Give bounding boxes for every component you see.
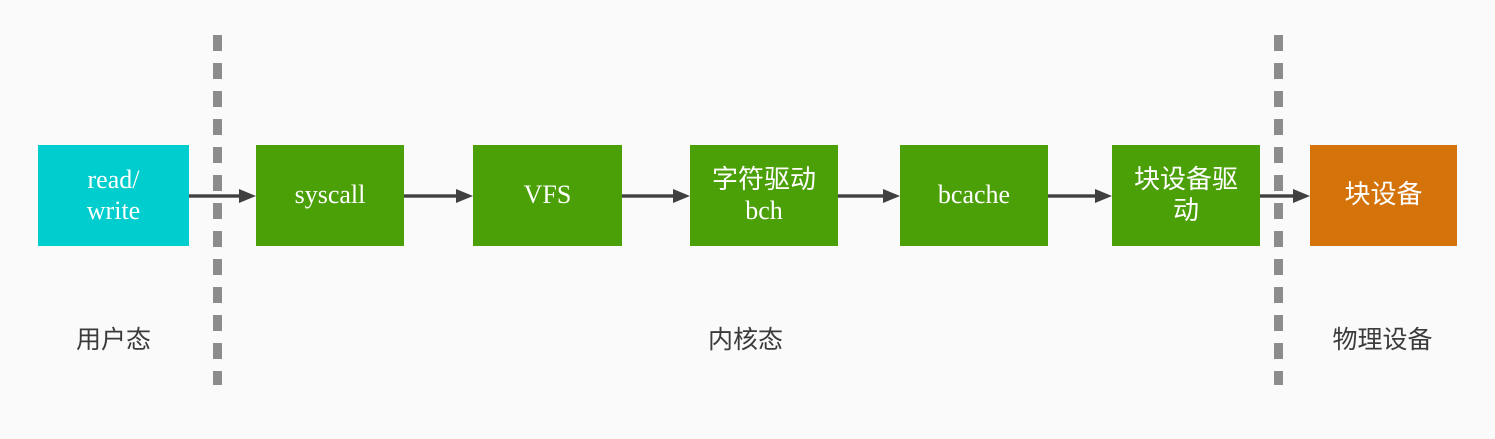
node-block-device-driver[interactable]: 块设备驱 动 [1112, 145, 1260, 246]
zone-label-physical-device: 物理设备 [1307, 320, 1458, 356]
node-block-device[interactable]: 块设备 [1310, 145, 1457, 246]
node-read-write[interactable]: read/ write [38, 145, 189, 246]
divider-user-kernel [213, 35, 222, 385]
node-char-driver-bch[interactable]: 字符驱动 bch [690, 145, 838, 246]
node-char-driver-bch-label: 字符驱动 bch [706, 165, 822, 226]
node-vfs[interactable]: VFS [473, 145, 622, 246]
arrow-syscall-to-vfs [404, 186, 473, 206]
node-bcache[interactable]: bcache [900, 145, 1048, 246]
arrow-bcache-to-block-driver [1048, 186, 1112, 206]
arrow-read-write-to-syscall [189, 186, 256, 206]
node-block-device-label: 块设备 [1338, 180, 1428, 211]
zone-label-user-space: 用户态 [38, 320, 189, 356]
node-syscall-label: syscall [289, 180, 372, 211]
node-bcache-label: bcache [932, 180, 1016, 211]
node-read-write-label: read/ write [81, 165, 146, 226]
arrow-char-driver-to-bcache [838, 186, 900, 206]
arrow-vfs-to-char-driver [622, 186, 690, 206]
divider-kernel-device [1274, 35, 1283, 385]
node-syscall[interactable]: syscall [256, 145, 404, 246]
node-block-device-driver-label: 块设备驱 动 [1128, 165, 1244, 226]
node-vfs-label: VFS [518, 180, 578, 211]
zone-label-kernel-space: 内核态 [670, 320, 821, 356]
arrow-block-driver-to-block-device [1260, 186, 1310, 206]
architecture-diagram: read/ write syscall VFS 字符驱动 bch bcache … [0, 0, 1495, 439]
